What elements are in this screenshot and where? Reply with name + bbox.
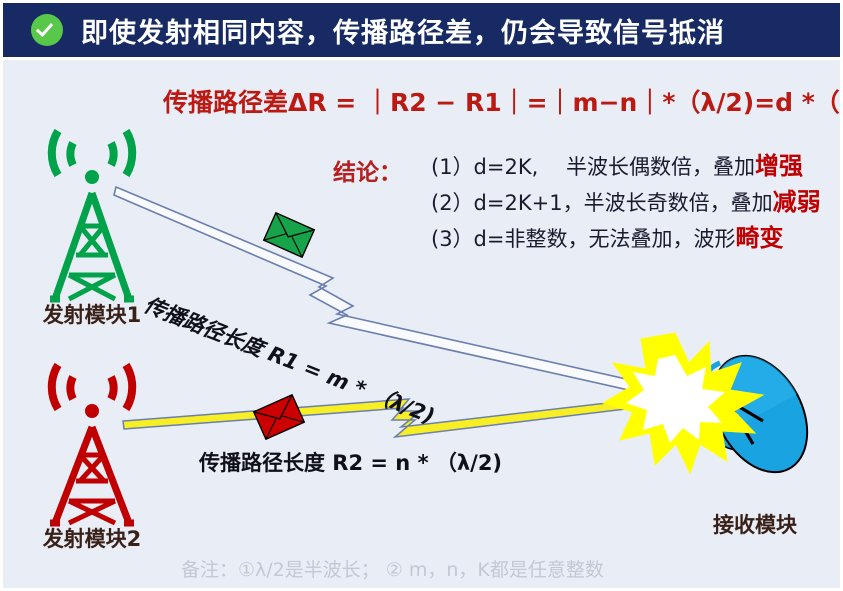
path-r1-bolt: [114, 187, 653, 395]
envelope-icon-r1: [264, 213, 315, 257]
footnote: 备注：①λ/2是半波长； ② m，n，K都是任意整数: [181, 555, 604, 582]
path-r2-label: 传播路径长度 R2 = n * （λ/2): [199, 447, 502, 477]
receiver-label: 接收模块: [675, 509, 835, 539]
transmitter-2-label: 发射模块2: [17, 523, 167, 553]
transmitter-2: 发射模块2: [17, 522, 167, 553]
antenna-tower-icon-2: [50, 365, 134, 523]
antenna-tower-icon-1: [50, 131, 134, 299]
slide-canvas: 即使发射相同内容，传播路径差，仍会导致信号抵消 传播路径差ΔR = ｜R2 − …: [0, 0, 843, 591]
diagram-svg: [3, 3, 843, 591]
envelope-icon-r2: [254, 395, 305, 439]
